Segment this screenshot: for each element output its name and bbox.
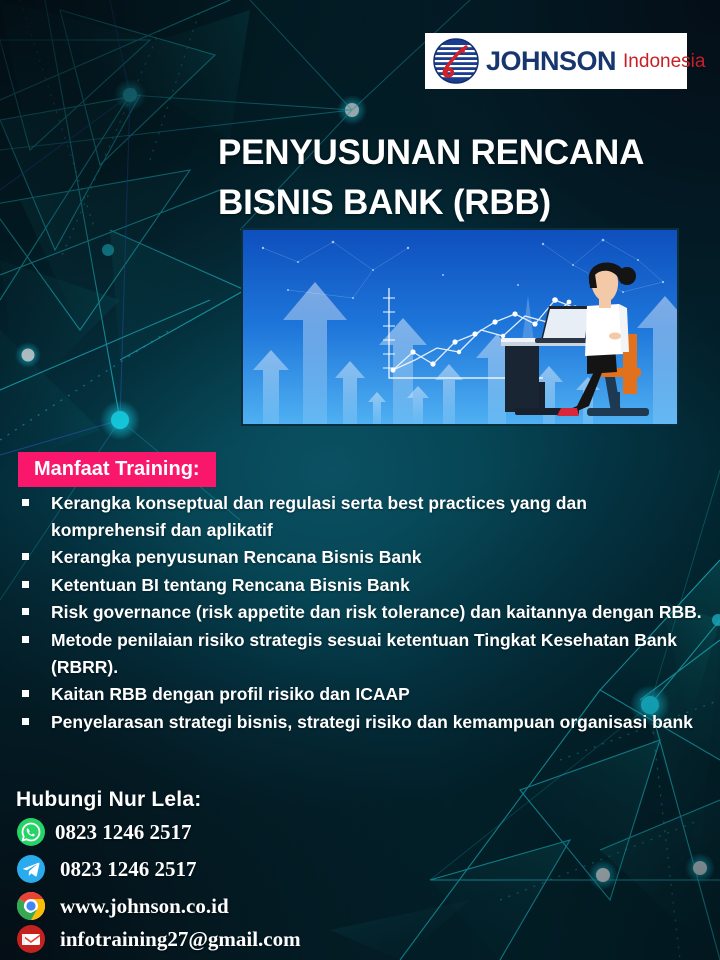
- company-logo: JOHNSON Indonesia: [425, 33, 687, 89]
- list-item-label: Ketentuan BI tentang Rencana Bisnis Bank: [51, 572, 702, 599]
- benefits-heading-badge: Manfaat Training:: [18, 452, 216, 487]
- bullet-square-icon: [22, 499, 29, 506]
- bullet-square-icon: [22, 718, 29, 725]
- benefits-list: Kerangka konseptual dan regulasi serta b…: [12, 490, 702, 736]
- list-item: Risk governance (risk appetite dan risk …: [12, 599, 702, 626]
- whatsapp-number: 0823 1246 2517: [55, 820, 192, 845]
- logo-region-text: Indonesia: [623, 52, 705, 71]
- contact-row-whatsapp[interactable]: 0823 1246 2517: [16, 817, 436, 847]
- list-item-label: Risk governance (risk appetite dan risk …: [51, 599, 702, 626]
- training-poster: JOHNSON Indonesia PENYUSUNAN RENCANA BIS…: [0, 0, 720, 960]
- telegram-number: 0823 1246 2517: [55, 857, 197, 882]
- bullet-square-icon: [22, 581, 29, 588]
- title-line-2: BISNIS BANK (RBB): [218, 178, 698, 228]
- chrome-icon: [16, 891, 46, 921]
- page-title: PENYUSUNAN RENCANA BISNIS BANK (RBB): [218, 128, 698, 227]
- email-address: infotraining27@gmail.com: [55, 927, 301, 952]
- gmail-icon: [16, 924, 46, 954]
- list-item: Penyelarasan strategi bisnis, strategi r…: [12, 709, 702, 736]
- logo-brand-text: JOHNSON: [486, 48, 616, 75]
- telegram-icon: [16, 854, 46, 884]
- johnson-circle-swoosh-logo: [433, 38, 479, 84]
- list-item-label: Kerangka penyusunan Rencana Bisnis Bank: [51, 544, 702, 571]
- list-item-label: Kaitan RBB dengan profil risiko dan ICAA…: [51, 681, 702, 708]
- contact-section: Hubungi Nur Lela: 0823 1246 2517 0823 12…: [16, 788, 436, 957]
- list-item: Ketentuan BI tentang Rencana Bisnis Bank: [12, 572, 702, 599]
- title-line-1: PENYUSUNAN RENCANA: [218, 128, 698, 178]
- hero-illustration: [241, 228, 679, 426]
- bullet-square-icon: [22, 553, 29, 560]
- whatsapp-icon: [16, 817, 46, 847]
- list-item-label: Penyelarasan strategi bisnis, strategi r…: [51, 709, 702, 736]
- contact-row-telegram[interactable]: 0823 1246 2517: [16, 854, 436, 884]
- contact-row-website[interactable]: www.johnson.co.id: [16, 891, 436, 921]
- contact-heading: Hubungi Nur Lela:: [16, 788, 436, 812]
- bullet-square-icon: [22, 690, 29, 697]
- list-item: Metode penilaian risiko strategis sesuai…: [12, 627, 702, 680]
- website-url: www.johnson.co.id: [55, 894, 229, 919]
- contact-row-email[interactable]: infotraining27@gmail.com: [16, 924, 436, 954]
- list-item: Kerangka konseptual dan regulasi serta b…: [12, 490, 702, 543]
- list-item-label: Metode penilaian risiko strategis sesuai…: [51, 627, 702, 680]
- list-item: Kerangka penyusunan Rencana Bisnis Bank: [12, 544, 702, 571]
- bullet-square-icon: [22, 636, 29, 643]
- list-item: Kaitan RBB dengan profil risiko dan ICAA…: [12, 681, 702, 708]
- list-item-label: Kerangka konseptual dan regulasi serta b…: [51, 490, 702, 543]
- bullet-square-icon: [22, 608, 29, 615]
